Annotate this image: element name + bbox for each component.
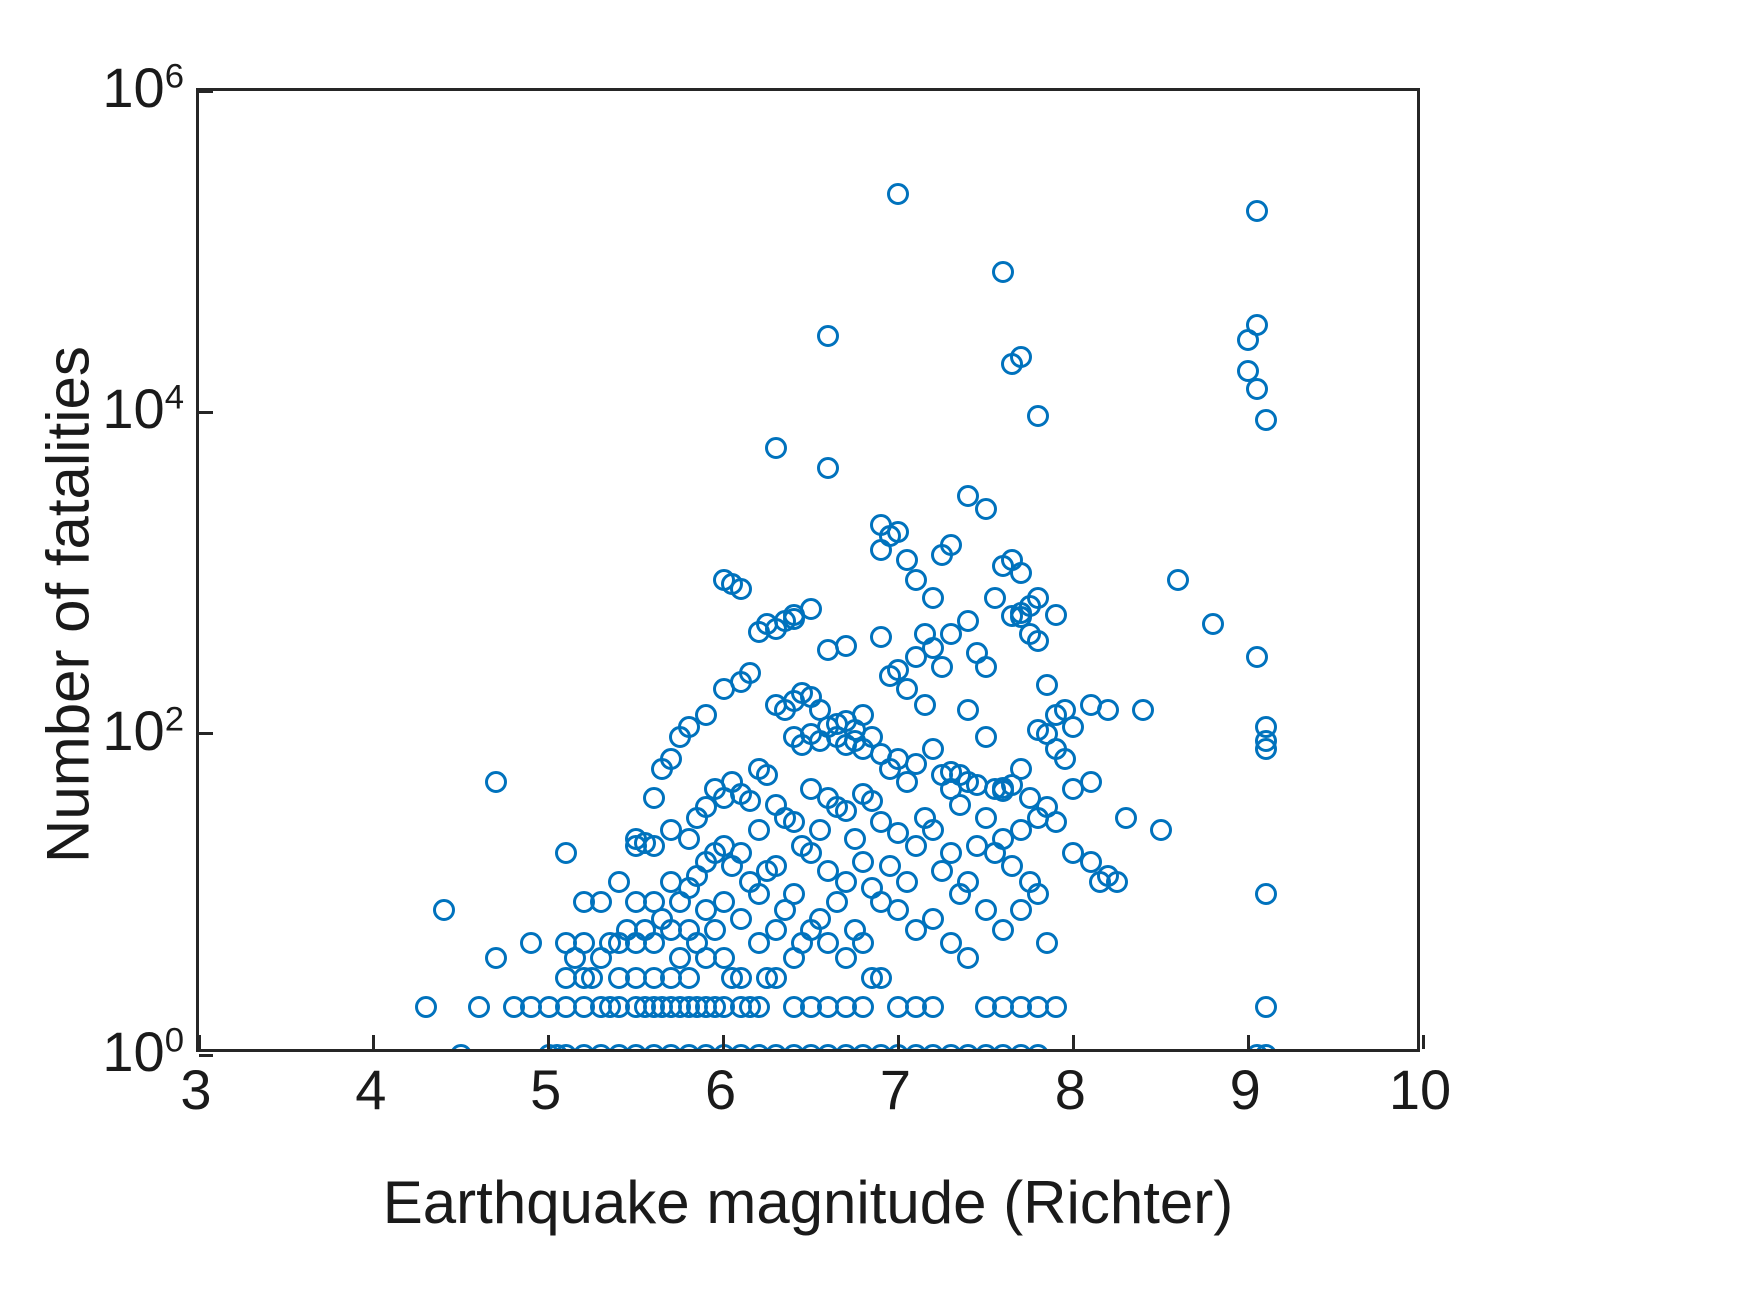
data-point-marker xyxy=(1010,562,1032,584)
data-point-marker xyxy=(678,967,700,989)
data-point-marker xyxy=(879,855,901,877)
x-tick xyxy=(372,1035,375,1049)
data-point-marker xyxy=(975,498,997,520)
data-point-marker xyxy=(756,764,778,786)
data-point-marker xyxy=(1115,807,1137,829)
data-point-marker xyxy=(975,656,997,678)
data-point-marker xyxy=(975,726,997,748)
data-point-marker xyxy=(914,694,936,716)
x-tick-label: 5 xyxy=(530,1062,561,1118)
data-point-marker xyxy=(433,899,455,921)
data-point-marker xyxy=(896,678,918,700)
data-point-marker xyxy=(887,183,909,205)
data-point-marker xyxy=(643,787,665,809)
data-point-marker xyxy=(1150,819,1172,841)
data-point-marker xyxy=(870,967,892,989)
data-point-marker xyxy=(896,549,918,571)
data-point-marker xyxy=(1080,771,1102,793)
data-point-marker xyxy=(984,587,1006,609)
data-point-marker xyxy=(555,842,577,864)
data-point-marker xyxy=(1246,646,1268,668)
data-point-marker xyxy=(1010,758,1032,780)
data-point-marker xyxy=(468,996,490,1018)
data-point-marker xyxy=(713,891,735,913)
data-point-marker xyxy=(1045,811,1067,833)
data-point-marker xyxy=(739,662,761,684)
data-point-marker xyxy=(1036,674,1058,696)
data-point-marker xyxy=(450,1044,472,1049)
data-point-marker xyxy=(1010,899,1032,921)
x-tick xyxy=(547,1035,550,1049)
x-axis-title: Earthquake magnitude (Richter) xyxy=(196,1168,1420,1237)
data-point-marker xyxy=(940,842,962,864)
data-point-marker xyxy=(1045,996,1067,1018)
data-point-marker xyxy=(730,842,752,864)
data-point-marker xyxy=(590,891,612,913)
data-point-marker xyxy=(922,587,944,609)
data-point-marker xyxy=(1027,1044,1049,1049)
data-point-marker xyxy=(922,738,944,760)
data-point-marker xyxy=(817,457,839,479)
data-point-marker xyxy=(783,811,805,833)
x-tick xyxy=(1247,1035,1250,1049)
data-point-marker xyxy=(922,996,944,1018)
data-point-marker xyxy=(992,261,1014,283)
data-point-marker xyxy=(643,835,665,857)
data-point-marker xyxy=(940,534,962,556)
data-point-marker xyxy=(1246,314,1268,336)
axes-box xyxy=(196,88,1420,1052)
data-point-marker xyxy=(852,704,874,726)
data-point-marker xyxy=(992,919,1014,941)
data-point-marker xyxy=(415,996,437,1018)
y-axis-title: Number of fatalities xyxy=(34,255,103,955)
data-point-marker xyxy=(1097,699,1119,721)
y-tick-label: 100 xyxy=(102,1024,184,1080)
data-point-marker xyxy=(975,899,997,921)
data-point-marker xyxy=(1255,730,1277,752)
data-point-marker xyxy=(957,871,979,893)
data-point-marker xyxy=(922,908,944,930)
data-point-marker xyxy=(1246,378,1268,400)
data-point-marker xyxy=(887,899,909,921)
data-point-marker xyxy=(896,871,918,893)
data-point-marker xyxy=(660,748,682,770)
plot-area xyxy=(199,91,1417,1049)
data-point-marker xyxy=(800,842,822,864)
data-point-marker xyxy=(835,800,857,822)
data-point-marker xyxy=(905,569,927,591)
data-point-marker xyxy=(957,947,979,969)
data-point-marker xyxy=(1027,630,1049,652)
data-point-marker xyxy=(520,932,542,954)
data-point-marker xyxy=(826,891,848,913)
data-point-marker xyxy=(931,656,953,678)
x-tick-label: 6 xyxy=(705,1062,736,1118)
data-point-marker xyxy=(1202,613,1224,635)
data-point-marker xyxy=(783,883,805,905)
data-point-marker xyxy=(1054,748,1076,770)
data-point-marker xyxy=(485,947,507,969)
data-point-marker xyxy=(1255,883,1277,905)
data-point-marker xyxy=(835,635,857,657)
y-tick xyxy=(199,411,213,414)
data-point-marker xyxy=(817,932,839,954)
data-point-marker xyxy=(852,851,874,873)
data-point-marker xyxy=(975,807,997,829)
data-point-marker xyxy=(748,883,770,905)
data-point-marker xyxy=(485,771,507,793)
data-point-marker xyxy=(704,919,726,941)
data-point-marker xyxy=(887,521,909,543)
data-point-marker xyxy=(844,828,866,850)
y-tick xyxy=(199,90,213,93)
data-point-marker xyxy=(835,871,857,893)
data-point-marker xyxy=(1027,883,1049,905)
data-point-marker xyxy=(730,578,752,600)
data-point-marker xyxy=(748,819,770,841)
y-tick xyxy=(199,1054,213,1057)
data-point-marker xyxy=(809,819,831,841)
data-point-marker xyxy=(957,699,979,721)
data-point-marker xyxy=(765,919,787,941)
data-point-marker xyxy=(835,947,857,969)
data-point-marker xyxy=(730,908,752,930)
data-point-marker xyxy=(957,610,979,632)
data-point-marker xyxy=(852,996,874,1018)
x-tick-label: 8 xyxy=(1055,1062,1086,1118)
data-point-marker xyxy=(748,996,770,1018)
x-tick xyxy=(1422,1035,1425,1049)
data-point-marker xyxy=(1001,855,1023,877)
data-point-marker xyxy=(1010,346,1032,368)
data-point-marker xyxy=(765,855,787,877)
data-point-marker xyxy=(1132,699,1154,721)
data-point-marker xyxy=(765,437,787,459)
data-point-marker xyxy=(608,871,630,893)
data-point-marker xyxy=(809,908,831,930)
data-point-marker xyxy=(905,835,927,857)
data-point-marker xyxy=(765,967,787,989)
data-point-marker xyxy=(1062,716,1084,738)
data-point-marker xyxy=(870,626,892,648)
y-tick xyxy=(199,732,213,735)
data-point-marker xyxy=(949,794,971,816)
data-point-marker xyxy=(1167,569,1189,591)
x-tick-label: 9 xyxy=(1230,1062,1261,1118)
data-point-marker xyxy=(817,325,839,347)
data-point-marker xyxy=(1246,200,1268,222)
y-tick-label: 106 xyxy=(102,60,184,116)
data-point-marker xyxy=(1106,871,1128,893)
data-point-marker xyxy=(730,967,752,989)
y-tick-label: 102 xyxy=(102,703,184,759)
data-point-marker xyxy=(695,704,717,726)
data-point-marker xyxy=(669,947,691,969)
data-point-marker xyxy=(1045,604,1067,626)
x-tick-label: 7 xyxy=(880,1062,911,1118)
data-point-marker xyxy=(922,819,944,841)
x-tick-label: 4 xyxy=(355,1062,386,1118)
scatter-plot-figure: 345678910 100102104106 Earthquake magnit… xyxy=(0,0,1750,1313)
data-point-marker xyxy=(1255,996,1277,1018)
data-point-marker xyxy=(852,932,874,954)
data-point-marker xyxy=(581,967,603,989)
x-tick xyxy=(1072,1035,1075,1049)
data-point-marker xyxy=(1027,587,1049,609)
x-tick-label: 3 xyxy=(180,1062,211,1118)
data-point-marker xyxy=(1027,405,1049,427)
x-tick xyxy=(722,1035,725,1049)
data-point-marker xyxy=(861,790,883,812)
data-point-marker xyxy=(713,947,735,969)
data-point-marker xyxy=(1036,932,1058,954)
data-point-marker xyxy=(678,828,700,850)
x-tick-label: 10 xyxy=(1389,1062,1451,1118)
data-point-marker xyxy=(739,790,761,812)
y-tick-label: 104 xyxy=(102,381,184,437)
data-point-marker xyxy=(1255,409,1277,431)
data-point-marker xyxy=(800,598,822,620)
x-tick xyxy=(897,1035,900,1049)
x-tick xyxy=(198,1035,201,1049)
